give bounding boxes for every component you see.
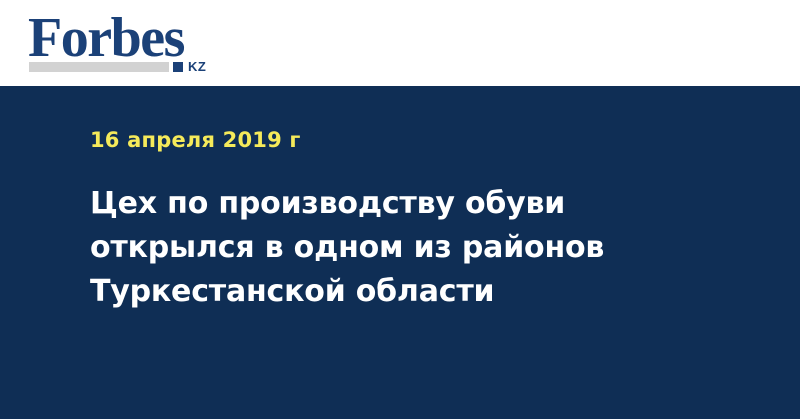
headline-line: Цех по производству обуви: [90, 182, 690, 226]
forbes-kz-logo[interactable]: Forbes KZ: [28, 12, 228, 76]
article-hero: 16 апреля 2019 г Цех по производству обу…: [0, 86, 800, 419]
logo-kz-label: KZ: [188, 60, 206, 73]
headline-line: открылся в одном из районов: [90, 226, 690, 270]
site-header: Forbes KZ: [0, 0, 800, 86]
logo-square-icon: [173, 62, 183, 72]
article-headline: Цех по производству обуви открылся в одн…: [90, 182, 690, 314]
article-card: Forbes KZ 16 апреля 2019 г Цех по произв…: [0, 0, 800, 419]
forbes-wordmark: Forbes: [28, 10, 184, 66]
article-date: 16 апреля 2019 г: [90, 128, 301, 152]
logo-rule-bar: [29, 62, 169, 72]
headline-line: Туркестанской области: [90, 270, 690, 314]
